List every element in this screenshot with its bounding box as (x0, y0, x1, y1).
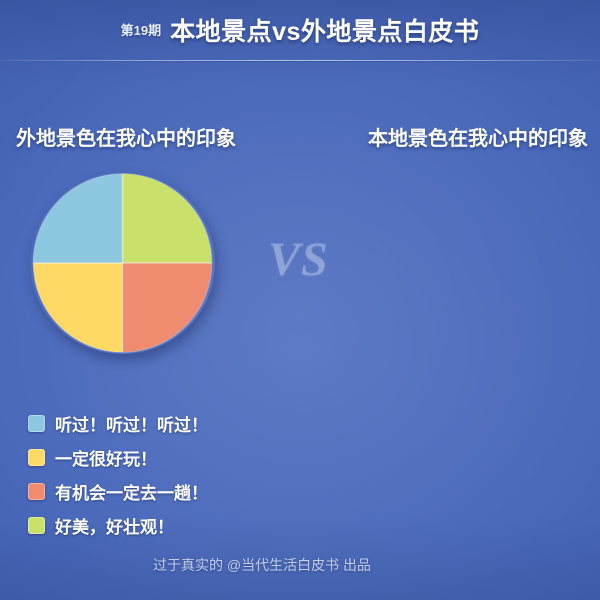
legend-label-will-visit: 有机会一定去一趟！ (55, 479, 208, 504)
legend-swatch-will-visit (28, 483, 45, 500)
pie-slice-heard-of-it[interactable] (33, 174, 122, 263)
footer-credit: 过于真实的 @当代生活白皮书 出品 (0, 555, 562, 575)
legend-item[interactable]: 有机会一定去一趟！ (28, 480, 208, 502)
legend-label-heard-of-it: 听过！听过！听过！ (55, 411, 208, 436)
legend-item[interactable]: 听过！听过！听过！ (28, 412, 208, 434)
header-bar: 第19期 本地景点vs外地景点白皮书 (0, 0, 600, 60)
legend-swatch-beautiful (28, 517, 45, 534)
chart-title-left: 外地景色在我心中的印象 (0, 122, 276, 151)
issue-number-label: 第19期 (121, 20, 161, 41)
legend-swatch-heard-of-it (28, 415, 45, 432)
pie-slice-must-be-fun[interactable] (33, 263, 122, 352)
legend-swatch-must-be-fun (28, 449, 45, 466)
legend-left: 听过！听过！听过！ 一定很好玩！ 有机会一定去一趟！ 好美，好壮观！ (28, 412, 208, 548)
legend-label-beautiful: 好美，好壮观！ (55, 513, 174, 538)
legend-label-must-be-fun: 一定很好玩！ (55, 445, 157, 470)
page-title: 本地景点vs外地景点白皮书 (170, 12, 479, 48)
legend-item[interactable]: 好美，好壮观！ (28, 514, 208, 536)
pie-slice-will-visit[interactable] (123, 263, 212, 352)
chart-title-right: 本地景色在我心中的印象 (328, 122, 600, 151)
panel-local-scenery: 本地景色在我心中的印象 啥？没去过，不清楚 (300, 60, 600, 600)
pie-slice-beautiful[interactable] (123, 174, 212, 263)
panel-foreign-scenery: 外地景色在我心中的印象 听过！听过！听过！ (0, 60, 300, 600)
pie-chart-svg (30, 172, 215, 354)
legend-item[interactable]: 一定很好玩！ (28, 446, 208, 468)
pie-chart-foreign-scenery (30, 172, 215, 354)
